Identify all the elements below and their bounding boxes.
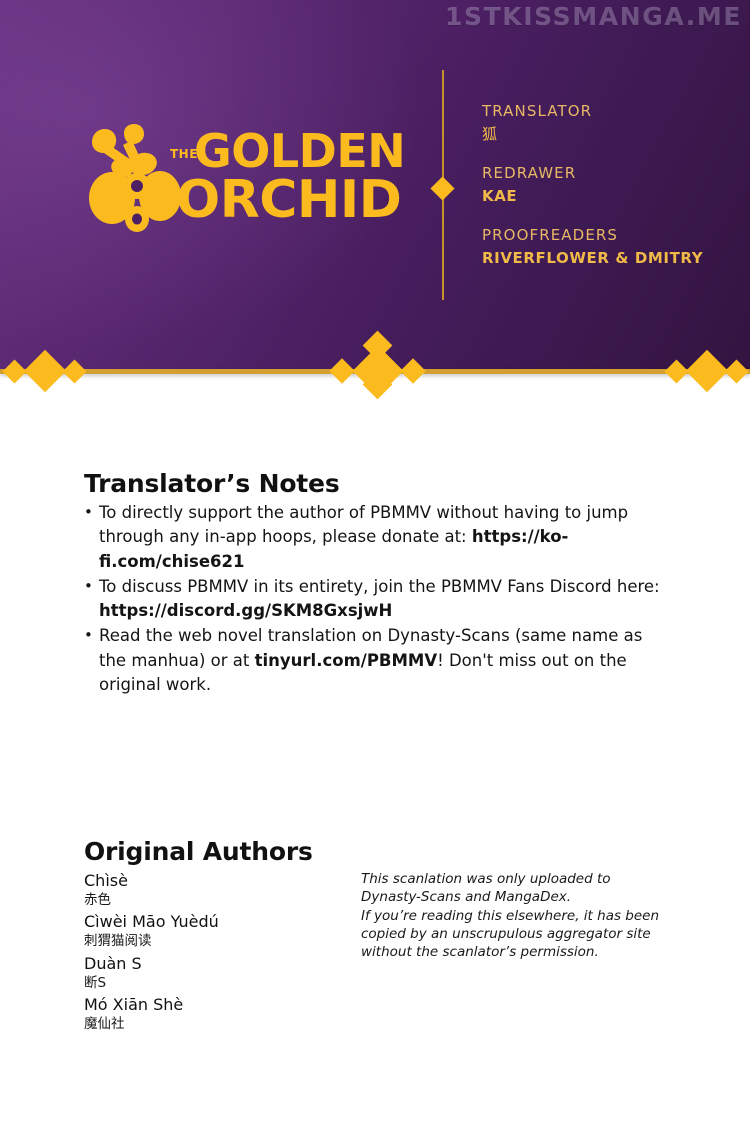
note-item: To discuss PBMMV in its entirety, join t… <box>84 575 662 624</box>
credit-role-label: PROOFREADERS <box>482 224 732 247</box>
note-text-pre: To discuss PBMMV in its entirety, join t… <box>99 577 660 596</box>
translator-notes-heading: Translator’s Notes <box>84 471 340 496</box>
author-name-cjk: 断S <box>84 974 334 992</box>
credit-name-value: 狐 <box>482 123 732 146</box>
disclaimer-line: without the scanlator’s permission. <box>361 943 681 961</box>
orchid-flower-icon <box>88 124 180 232</box>
author-name-cjk: 赤色 <box>84 891 334 909</box>
diamond-icon-left-main <box>24 350 66 392</box>
diamond-icon-left-small-a <box>2 359 26 383</box>
note-item: To directly support the author of PBMMV … <box>84 501 662 574</box>
diamond-icon-right-main <box>686 350 728 392</box>
author-name-pinyin: Cìwèi Māo Yuèdú <box>84 911 334 932</box>
credits-page: 1STKISSMANGA.ME <box>0 0 750 1121</box>
credit-entry-proofreaders: PROOFREADERS RIVERFLOWER & DMITRY <box>482 224 732 269</box>
credit-role-label: REDRAWER <box>482 162 732 185</box>
author-entry: Duàn S 断S <box>84 953 334 992</box>
author-name-pinyin: Chìsè <box>84 870 334 891</box>
author-entry: Cìwèi Māo Yuèdú 刺猬猫阅读 <box>84 911 334 950</box>
site-watermark: 1STKISSMANGA.ME <box>445 2 742 31</box>
author-name-pinyin: Mó Xiān Shè <box>84 994 334 1015</box>
disclaimer-line: This scanlation was only uploaded to <box>361 870 681 888</box>
decorative-divider <box>0 349 750 397</box>
author-name-cjk: 魔仙社 <box>84 1015 334 1033</box>
original-authors-heading: Original Authors <box>84 839 313 864</box>
credits-list: TRANSLATOR 狐 REDRAWER KAE PROOFREADERS R… <box>482 100 732 269</box>
note-link[interactable]: https://discord.gg/SKM8GxsjwH <box>99 601 392 620</box>
author-name-pinyin: Duàn S <box>84 953 334 974</box>
credits-banner: 1STKISSMANGA.ME <box>0 0 750 371</box>
diamond-icon-right-small-b <box>724 359 748 383</box>
diamond-icon-right-small-a <box>664 359 688 383</box>
credit-name-value: KAE <box>482 185 732 208</box>
credits-diamond-icon <box>430 176 454 200</box>
golden-orchid-logo: THE GOLDEN ORCHID <box>88 122 408 234</box>
author-name-cjk: 刺猬猫阅读 <box>84 932 334 950</box>
translator-notes-list: To directly support the author of PBMMV … <box>84 501 662 698</box>
credit-entry-redrawer: REDRAWER KAE <box>482 162 732 207</box>
logo-golden-label: GOLDEN <box>194 128 405 174</box>
disclaimer-line: Dynasty-Scans and MangaDex. <box>361 888 681 906</box>
disclaimer-line: copied by an unscrupulous aggregator sit… <box>361 925 681 943</box>
scanlation-disclaimer: This scanlation was only uploaded to Dyn… <box>361 870 681 962</box>
credit-name-value: RIVERFLOWER & DMITRY <box>482 247 732 270</box>
logo-orchid-label: ORCHID <box>176 174 401 226</box>
diamond-icon-center-left <box>329 358 354 383</box>
author-entry: Mó Xiān Shè 魔仙社 <box>84 994 334 1033</box>
note-link[interactable]: tinyurl.com/PBMMV <box>255 651 437 670</box>
disclaimer-line: If you’re reading this elsewhere, it has… <box>361 907 681 925</box>
diamond-icon-left-small-b <box>62 359 86 383</box>
credit-entry-translator: TRANSLATOR 狐 <box>482 100 732 145</box>
original-authors-list: Chìsè 赤色 Cìwèi Māo Yuèdú 刺猬猫阅读 Duàn S 断S… <box>84 870 334 1035</box>
logo-wordmark: THE GOLDEN ORCHID <box>170 122 410 234</box>
credit-role-label: TRANSLATOR <box>482 100 732 123</box>
note-item: Read the web novel translation on Dynast… <box>84 624 662 697</box>
diamond-icon-center-right <box>400 358 425 383</box>
author-entry: Chìsè 赤色 <box>84 870 334 909</box>
